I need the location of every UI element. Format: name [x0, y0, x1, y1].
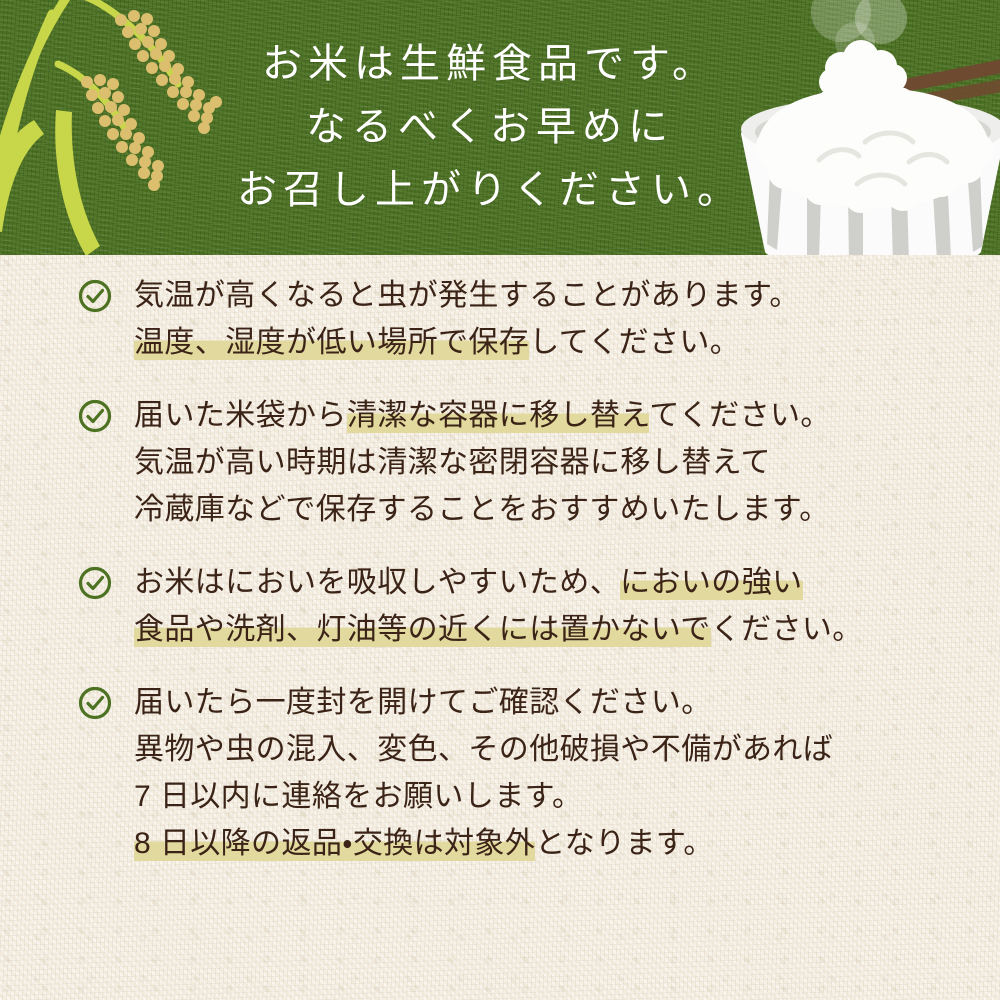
notice-line: 気温が高い時期は清潔な密閉容器に移し替えて [134, 439, 831, 486]
check-circle-icon [78, 399, 112, 433]
header-banner: お米は生鮮食品です。 なるべくお早めに お召し上がりください。 [0, 0, 1000, 255]
notice-item: 届いたら一度封を開けてご確認ください。 異物や虫の混入、変色、その他破損や不備が… [0, 679, 1000, 867]
notice-text-plain: 7 日以内に連絡をお願いします。 [134, 780, 582, 813]
notice-line: 冷蔵庫などで保存することをおすすめいたします。 [134, 486, 831, 533]
notice-line: 温度、湿度が低い場所で保存してください。 [134, 319, 800, 366]
notice-page: お米は生鮮食品です。 なるべくお早めに お召し上がりください。 気温が高くなると… [0, 0, 1000, 1000]
notice-item: 届いた米袋から清潔な容器に移し替えてください。 気温が高い時期は清潔な密閉容器に… [0, 392, 1000, 533]
notice-text-plain: 異物や虫の混入、変色、その他破損や不備があれば [134, 733, 833, 766]
notice-item-text: お米はにおいを吸収しやすいため、においの強い 食品や洗剤、灯油等の近くには置かな… [134, 559, 863, 653]
notice-line: お米はにおいを吸収しやすいため、においの強い [134, 559, 863, 606]
notice-text-plain: 届いたら一度封を開けてご確認ください。 [134, 686, 712, 719]
check-circle-icon [78, 686, 112, 720]
notice-text-highlight: 温度、湿度が低い場所で保存 [134, 326, 529, 360]
notice-text-plain: 気温が高い時期は清潔な密閉容器に移し替えて [134, 446, 771, 479]
notice-list: 気温が高くなると虫が発生することがあります。 温度、湿度が低い場所で保存してくだ… [0, 272, 1000, 893]
header-title-line-3: お召し上がりください。 [190, 158, 790, 221]
notice-text-highlight: 清潔な容器に移し替え [347, 399, 650, 433]
check-circle-icon [78, 279, 112, 313]
notice-text-highlight: 食品や洗剤、灯油等の近くには置かないで [134, 613, 711, 647]
notice-item-text: 届いた米袋から清潔な容器に移し替えてください。 気温が高い時期は清潔な密閉容器に… [134, 392, 831, 533]
notice-item: 気温が高くなると虫が発生することがあります。 温度、湿度が低い場所で保存してくだ… [0, 272, 1000, 366]
notice-line: 異物や虫の混入、変色、その他破損や不備があれば [134, 726, 833, 773]
notice-line: 気温が高くなると虫が発生することがあります。 [134, 272, 800, 319]
notice-text-plain: 気温が高くなると虫が発生することがあります。 [134, 279, 800, 312]
notice-text-plain: 冷蔵庫などで保存することをおすすめいたします。 [134, 493, 830, 526]
header-title-line-1: お米は生鮮食品です。 [190, 32, 790, 95]
notice-item-text: 気温が高くなると虫が発生することがあります。 温度、湿度が低い場所で保存してくだ… [134, 272, 800, 366]
notice-line: 届いた米袋から清潔な容器に移し替えてください。 [134, 392, 831, 439]
header-title: お米は生鮮食品です。 なるべくお早めに お召し上がりください。 [190, 32, 790, 221]
notice-line: 届いたら一度封を開けてご確認ください。 [134, 679, 833, 726]
notice-line: 7 日以内に連絡をお願いします。 [134, 773, 833, 820]
notice-item-text: 届いたら一度封を開けてご確認ください。 異物や虫の混入、変色、その他破損や不備が… [134, 679, 833, 867]
notice-line: 8 日以降の返品・交換は対象外となります。 [134, 820, 833, 867]
notice-text-plain: してください。 [529, 326, 740, 359]
header-title-line-2: なるべくお早めに [190, 95, 790, 158]
notice-text-highlight: においの強い [620, 566, 802, 600]
notice-text-plain: お米はにおいを吸収しやすいため、 [134, 566, 620, 599]
notice-text-plain: 届いた米袋から [134, 399, 347, 432]
notice-line: 食品や洗剤、灯油等の近くには置かないでください。 [134, 606, 863, 653]
notice-item: お米はにおいを吸収しやすいため、においの強い 食品や洗剤、灯油等の近くには置かな… [0, 559, 1000, 653]
notice-text-plain: ください。 [711, 613, 863, 646]
notice-text-plain: となります。 [535, 827, 714, 860]
notice-text-plain: てください。 [649, 399, 831, 432]
notice-text-highlight: 8 日以降の返品・交換は対象外 [134, 827, 535, 861]
check-circle-icon [78, 566, 112, 600]
